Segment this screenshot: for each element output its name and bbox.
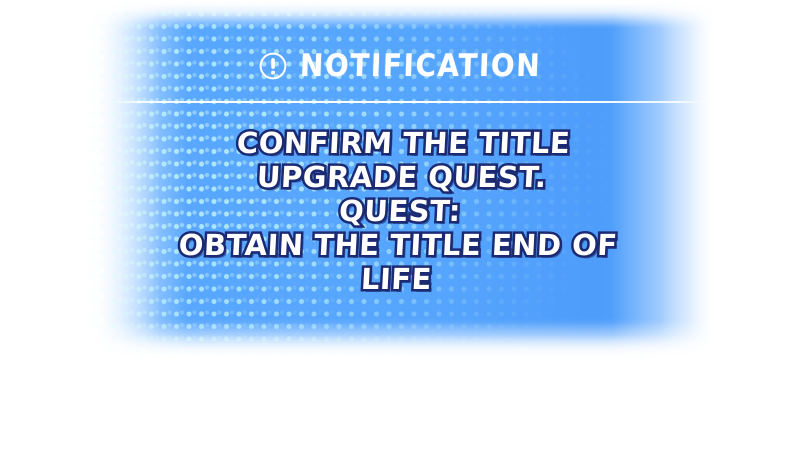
notification-screen: NOTIFICATION CONFIRM THE TITLE UPGRADE Q… <box>0 0 800 460</box>
alert-exclamation-circle-icon <box>258 51 288 81</box>
notification-header: NOTIFICATION <box>0 42 800 90</box>
header-divider <box>110 101 708 103</box>
notification-title: NOTIFICATION <box>300 48 542 84</box>
panel-bottom-fade <box>0 318 800 358</box>
panel-top-fade <box>0 0 800 26</box>
notification-message: CONFIRM THE TITLE UPGRADE QUEST. QUEST: … <box>86 126 715 296</box>
